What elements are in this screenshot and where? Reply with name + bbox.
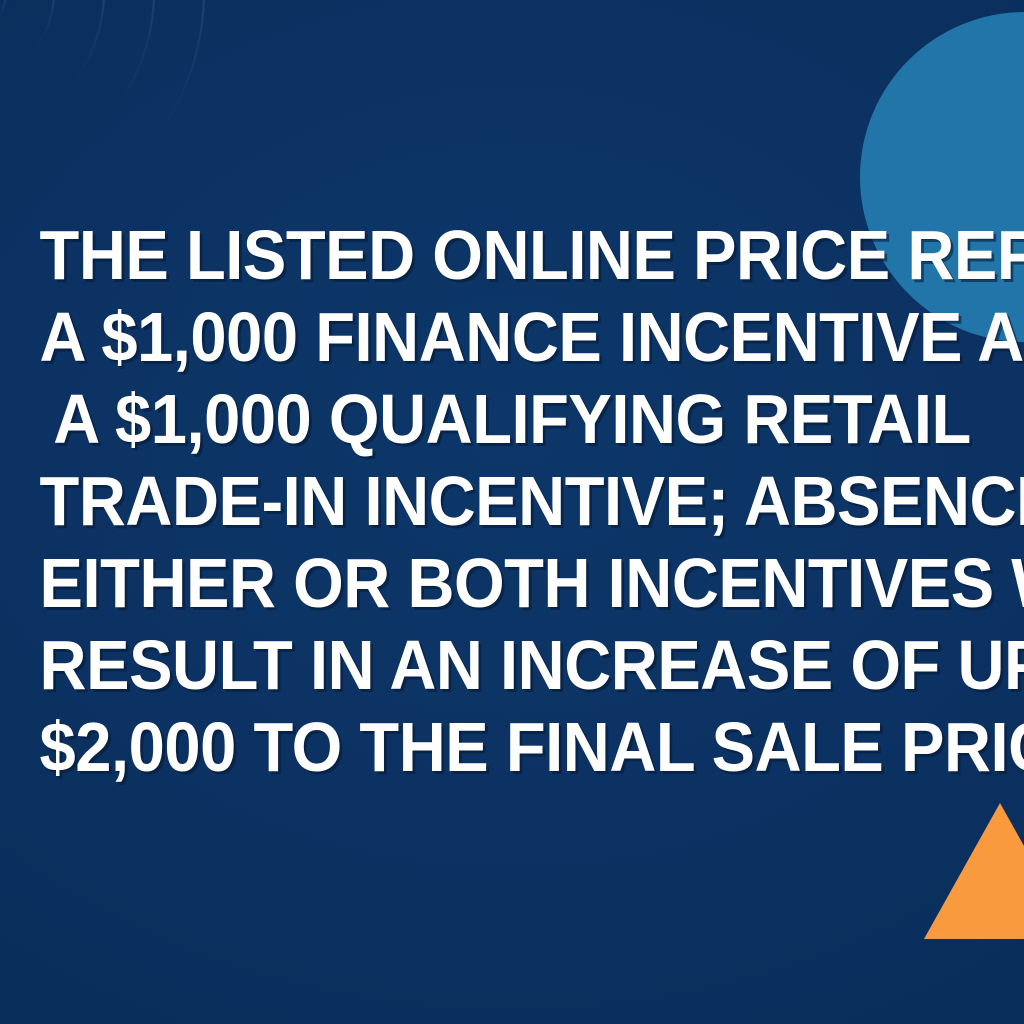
headline-line-1: THE LISTED ONLINE PRICE REFLECTS — [40, 214, 985, 296]
headline-line-6: RESULT IN AN INCREASE OF UP TO — [40, 624, 985, 706]
headline-line-3: A $1,000 QUALIFYING RETAIL — [40, 378, 985, 460]
headline-line-7: $2,000 TO THE FINAL SALE PRICE. — [40, 706, 985, 788]
headline-text: THE LISTED ONLINE PRICE REFLECTS A $1,00… — [36, 214, 988, 788]
promo-disclaimer-graphic: THE LISTED ONLINE PRICE REFLECTS A $1,00… — [0, 0, 1024, 1024]
headline-line-4: TRADE-IN INCENTIVE; ABSENCE OF — [40, 460, 985, 542]
headline-line-5: EITHER OR BOTH INCENTIVES WILL — [40, 542, 985, 624]
triangle-accent-shape — [924, 803, 1024, 939]
headline-line-2: A $1,000 FINANCE INCENTIVE AND — [40, 296, 985, 378]
